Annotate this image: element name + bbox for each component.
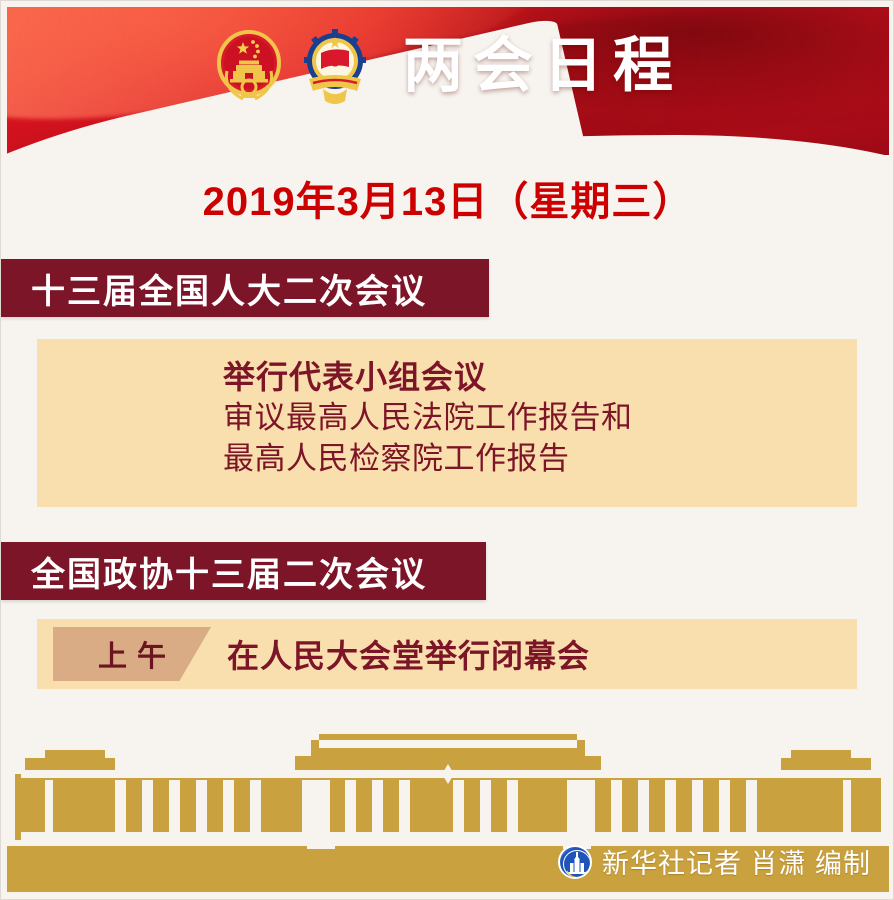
poster-title: 两会日程 <box>403 36 683 96</box>
npc-agenda-line-1: 审议最高人民法院工作报告和 <box>223 398 857 439</box>
date-heading: 2019年3月13日（星期三） <box>1 169 894 227</box>
section-banner-npc: 十三届全国人大二次会议 <box>1 259 489 317</box>
infographic-poster: 两会日程 2019年3月13日（星期三） 十三届全国人大二次会议 举行代表小组会… <box>0 0 894 900</box>
poster-header: 两会日程 <box>7 7 889 155</box>
time-tag-morning: 上午 <box>53 627 211 681</box>
section-card-npc: 举行代表小组会议 审议最高人民法院工作报告和 最高人民检察院工作报告 <box>37 339 857 507</box>
npc-agenda-line-2: 最高人民检察院工作报告 <box>223 439 857 480</box>
section-banner-cppcc: 全国政协十三届二次会议 <box>1 542 486 600</box>
credit-line: 新华社记者 肖潇 编制 <box>558 842 871 881</box>
credit-text: 新华社记者 肖潇 编制 <box>602 842 871 881</box>
cppcc-agenda-text: 在人民大会堂举行闭幕会 <box>227 619 590 689</box>
section-card-cppcc: 上午 在人民大会堂举行闭幕会 <box>37 619 857 689</box>
section-banner-cppcc-label: 全国政协十三届二次会议 <box>31 547 427 596</box>
cppcc-emblem-icon <box>299 27 371 105</box>
section-banner-npc-label: 十三届全国人大二次会议 <box>31 264 427 313</box>
xinhua-logo-icon <box>558 845 592 879</box>
npc-agenda-title: 举行代表小组会议 <box>223 357 857 398</box>
national-emblem-icon <box>213 27 285 105</box>
